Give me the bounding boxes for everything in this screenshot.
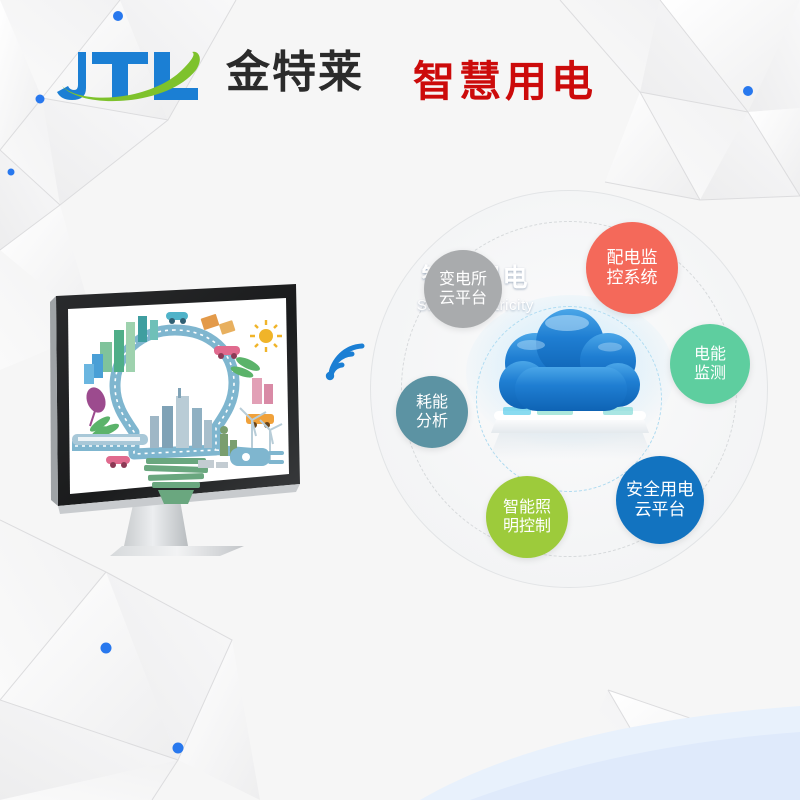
bubble-safety-line1: 安全用电 — [622, 480, 698, 500]
jtl-logo-mark — [56, 44, 216, 106]
poster-title: 智慧用电 — [413, 48, 597, 109]
bubble-energy-line2: 监测 — [690, 364, 730, 383]
bubble-distribution-monitoring-system[interactable]: 配电监 控系统 — [586, 222, 678, 314]
company-logo: 金特莱 — [56, 44, 356, 106]
wifi-signal-icon — [318, 333, 374, 389]
bubble-safety-line2: 云平台 — [622, 500, 698, 520]
brand-name-cn: 金特莱 — [226, 42, 364, 104]
bubble-lighting-line2: 明控制 — [499, 517, 555, 536]
bubble-substation-cloud-platform[interactable]: 变电所 云平台 — [424, 250, 502, 328]
bubble-lighting-line1: 智能照 — [499, 498, 555, 517]
poster-canvas: 金特莱 智慧用电 — [0, 0, 800, 800]
bubble-energy-monitoring[interactable]: 电能 监测 — [670, 324, 750, 404]
smart-electricity-cloud — [463, 293, 678, 483]
bubble-distribution-line1: 配电监 — [603, 248, 662, 268]
desktop-monitor — [48, 278, 328, 568]
bubble-safe-electricity-cloud-platform[interactable]: 安全用电 云平台 — [616, 456, 704, 544]
poster-header: 金特莱 智慧用电 — [0, 0, 800, 140]
bubble-substation-line2: 云平台 — [435, 289, 491, 308]
ecosystem-diagram: 智慧用电 Smart electricity 变电所 云平台 配电监 控系统 电… — [368, 188, 772, 592]
bubble-consumption-analysis[interactable]: 耗能 分析 — [396, 376, 468, 448]
bubble-consumption-line1: 耗能 — [412, 393, 452, 412]
bubble-energy-line1: 电能 — [690, 345, 730, 364]
bubble-intelligent-lighting-control[interactable]: 智能照 明控制 — [486, 476, 568, 558]
bubble-consumption-line2: 分析 — [412, 412, 452, 431]
bubble-substation-line1: 变电所 — [435, 270, 491, 289]
bubble-distribution-line2: 控系统 — [603, 268, 662, 288]
